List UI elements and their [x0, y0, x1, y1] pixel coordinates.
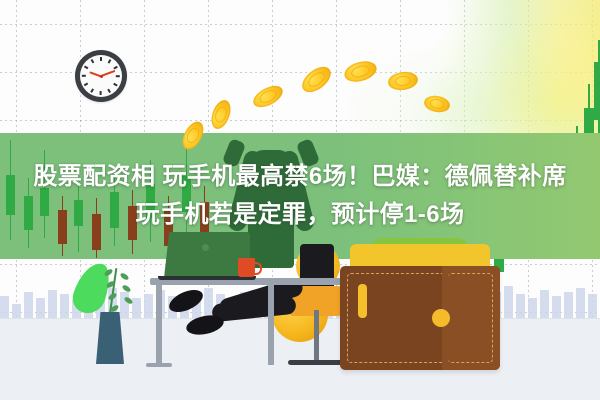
- desk-foot-left: [146, 363, 172, 367]
- bar: [132, 298, 141, 318]
- clock-minute-hand: [101, 70, 116, 77]
- clock-tick: [91, 59, 94, 63]
- clock-tick: [100, 91, 102, 95]
- clock-tick: [100, 57, 102, 61]
- desk-leg-left: [156, 285, 162, 365]
- headline: 股票配资相 玩手机最高禁6场！巴媒：德佩替补席 玩手机若是定罪，预计停1-6场: [0, 158, 600, 234]
- bar: [552, 296, 561, 318]
- headline-line-2: 玩手机若是定罪，预计停1-6场: [0, 196, 600, 234]
- desk-leg-mid: [268, 285, 274, 365]
- bar: [24, 292, 33, 318]
- bar: [504, 286, 513, 318]
- bar: [576, 288, 585, 318]
- clock-tick: [108, 89, 111, 93]
- clock-tick: [114, 83, 118, 86]
- bar: [144, 294, 153, 318]
- chair-base: [288, 360, 346, 365]
- thumbnail-canvas: 股票配资相 玩手机最高禁6场！巴媒：德佩替补席 玩手机若是定罪，预计停1-6场: [0, 0, 600, 400]
- chair-post: [314, 310, 319, 362]
- bar: [120, 292, 129, 318]
- bar: [540, 290, 549, 318]
- bar: [516, 294, 525, 318]
- clock-tick: [108, 59, 111, 63]
- clock-tick: [84, 66, 88, 69]
- clock-center-pin: [100, 75, 103, 78]
- bar: [48, 290, 57, 318]
- bar: [36, 298, 45, 318]
- headline-line-1: 股票配资相 玩手机最高禁6场！巴媒：德佩替补席: [0, 158, 600, 196]
- clock-tick: [91, 89, 94, 93]
- bar: [564, 292, 573, 318]
- bar: [12, 304, 21, 318]
- bar: [60, 294, 69, 318]
- wallet-flap-stitching: [448, 273, 493, 363]
- wallet-card: [358, 284, 367, 318]
- wall-clock: [75, 50, 127, 102]
- clock-face: [80, 55, 122, 97]
- bar: [528, 298, 537, 318]
- clock-tick: [82, 75, 86, 77]
- clock-tick: [114, 66, 118, 69]
- clock-tick: [116, 75, 120, 77]
- leather-wallet: [340, 266, 500, 370]
- bar: [588, 294, 597, 318]
- plant-vase: [96, 312, 124, 364]
- clock-tick: [84, 83, 88, 86]
- wallet-button: [432, 309, 450, 327]
- bar: [0, 296, 9, 318]
- laptop-logo: [202, 244, 209, 251]
- candle-body: [594, 62, 600, 120]
